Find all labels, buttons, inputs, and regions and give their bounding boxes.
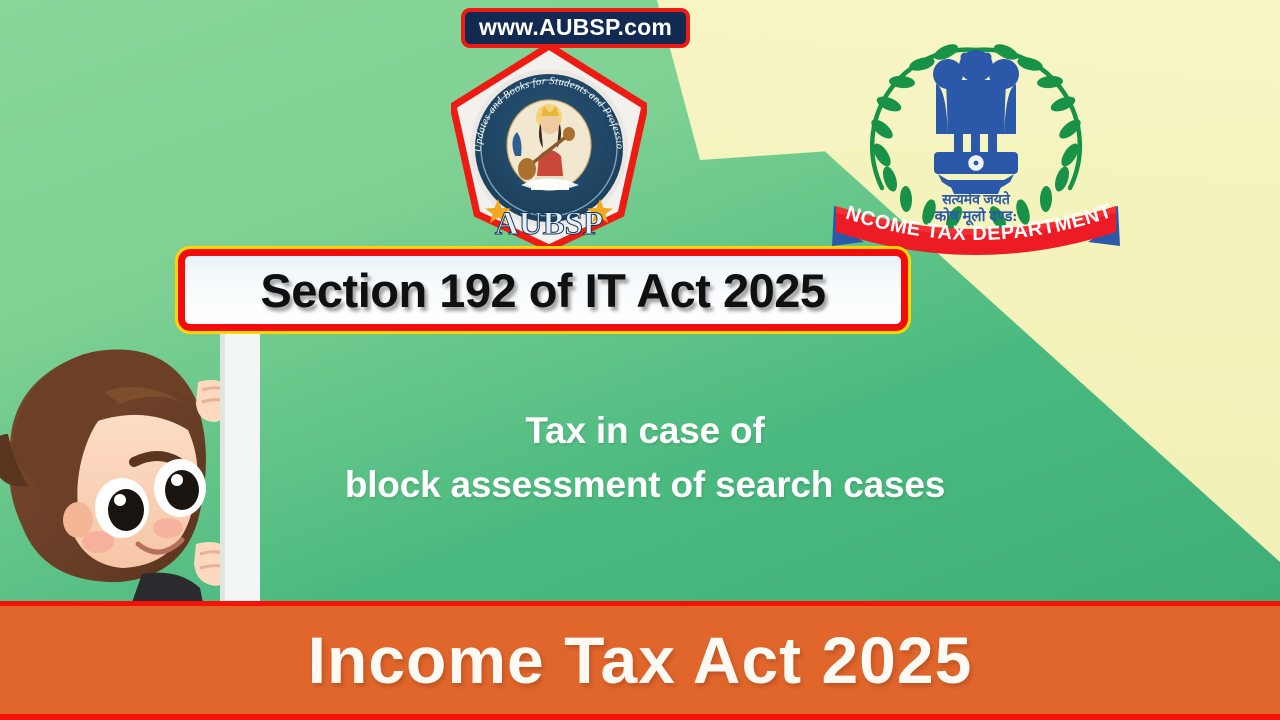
footer-title: Income Tax Act 2025	[308, 622, 973, 698]
poster-canvas: All Updates and Books for Students and P…	[0, 0, 1280, 720]
peeking-child-mascot	[0, 330, 260, 608]
aubsp-wordmark: AUBSP	[495, 206, 603, 242]
aubsp-logo: All Updates and Books for Students and P…	[451, 44, 647, 250]
motto-satyameva-jayate: सत्यमेव जयते	[941, 191, 1011, 208]
section-title-box: Section 192 of IT Act 2025	[178, 249, 908, 331]
subtitle-line-2: block assessment of search cases	[230, 458, 1060, 512]
income-tax-department-logo: सत्यमेव जयते कोष मूलो दण्ड: INCOME TAX D…	[826, 28, 1126, 258]
subtitle-line-1: Tax in case of	[230, 404, 1060, 458]
footer-bar: Income Tax Act 2025	[0, 601, 1280, 720]
website-url-banner[interactable]: www.AUBSP.com	[461, 8, 690, 48]
page-title: Section 192 of IT Act 2025	[260, 263, 825, 318]
subtitle-block: Tax in case of block assessment of searc…	[230, 404, 1060, 511]
